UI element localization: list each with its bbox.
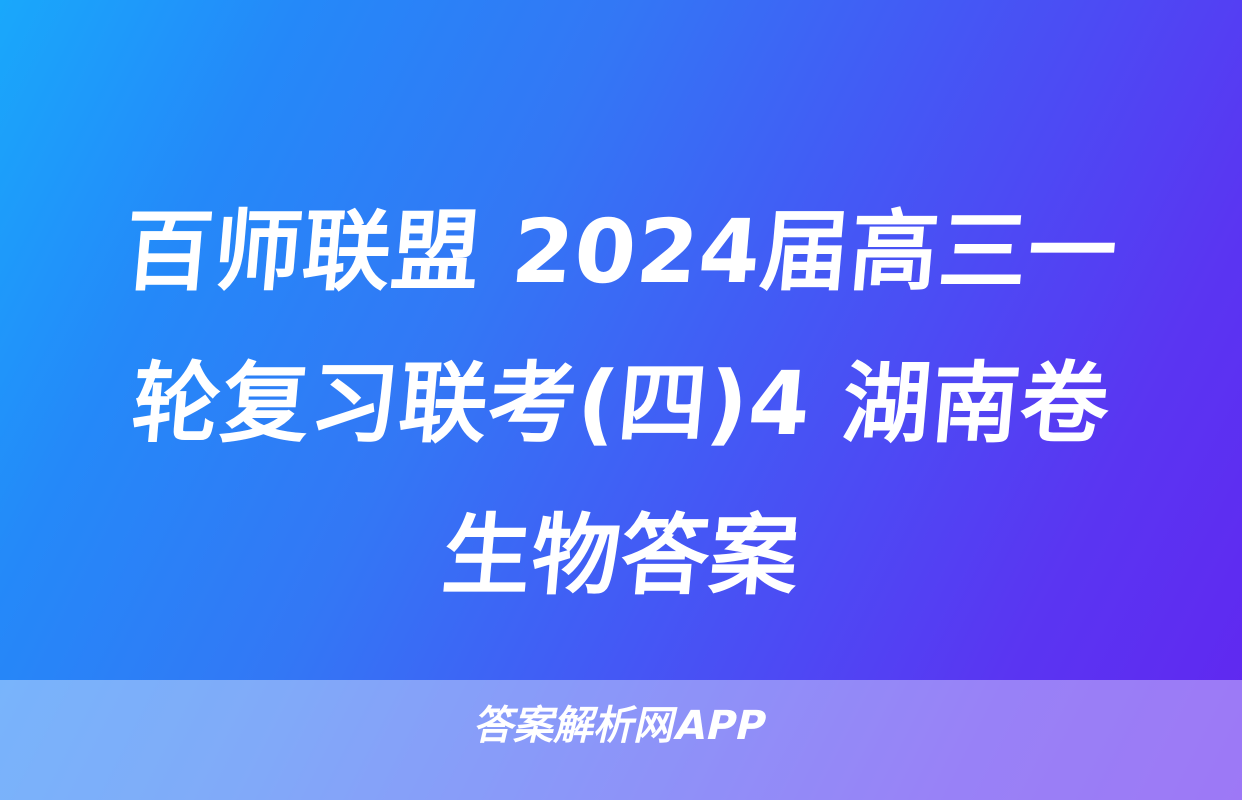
title-line-2: 轮复习联考(四)4 湖南卷 <box>49 328 1192 480</box>
title-line-1: 百师联盟 2024届高三一 <box>49 176 1192 328</box>
page-title: 百师联盟 2024届高三一 轮复习联考(四)4 湖南卷 生物答案 <box>0 176 1242 632</box>
watermark: 答案解析网APP <box>0 702 1242 750</box>
watermark-label: 答案解析网APP <box>471 702 772 750</box>
poster-canvas: 百师联盟 2024届高三一 轮复习联考(四)4 湖南卷 生物答案 答案解析网AP… <box>0 0 1242 800</box>
title-line-3: 生物答案 <box>49 480 1192 632</box>
